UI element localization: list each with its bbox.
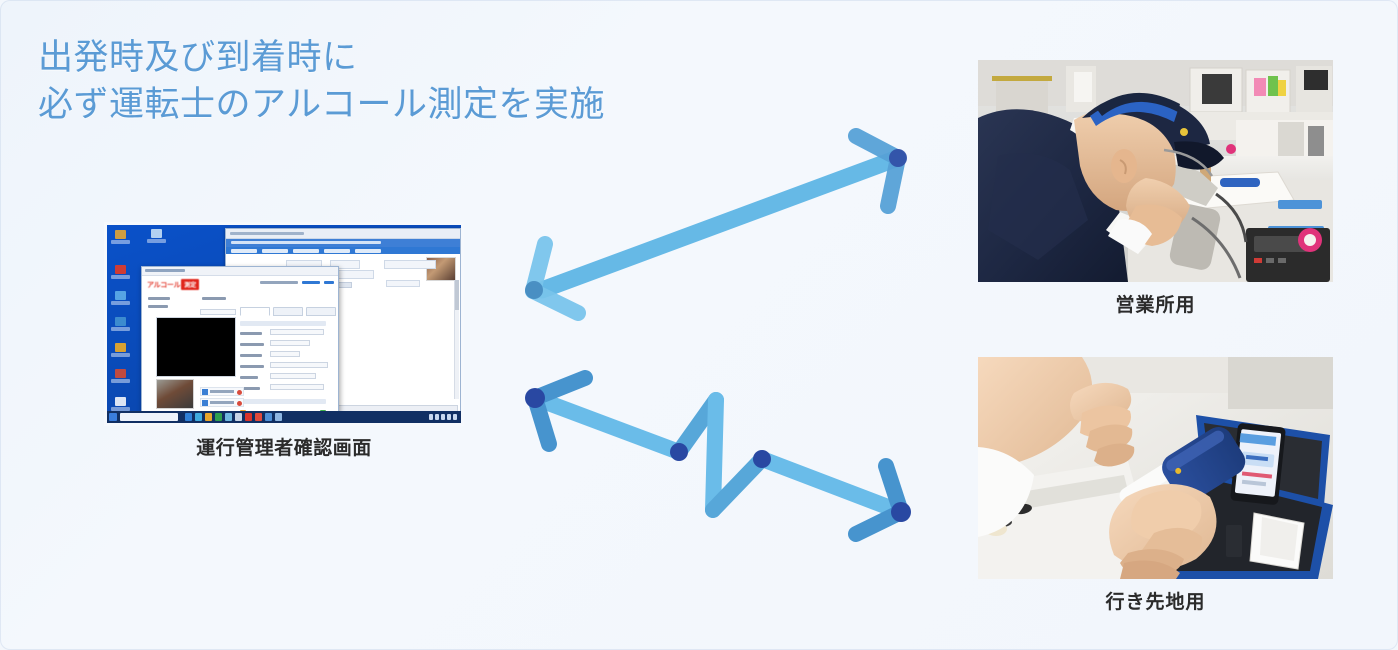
bg-field-4[interactable] <box>384 260 436 269</box>
background-window-titlebar[interactable] <box>226 229 460 239</box>
background-window-addressbar[interactable] <box>226 239 460 247</box>
detail-value-6[interactable] <box>270 384 324 390</box>
upper-double-arrow <box>525 136 907 313</box>
desktop-icon-misc <box>115 369 126 378</box>
taskbar-icon-pdf[interactable] <box>245 413 252 421</box>
title-line-2: 必ず運転士のアルコール測定を実施 <box>38 81 605 128</box>
office-photo-caption: 営業所用 <box>978 290 1333 317</box>
office-photo-card: 営業所用 <box>978 60 1333 317</box>
office-photo-frame <box>978 60 1333 282</box>
zigzag-left-head-barb-b <box>535 398 549 444</box>
mobile-photo-card: 行き先地用 <box>978 357 1333 614</box>
desktop-icon-browser <box>115 291 126 300</box>
taskbar-icon-explorer[interactable] <box>185 413 192 421</box>
zigzag-left-joint <box>525 388 545 408</box>
zigzag-segment-3 <box>713 400 716 510</box>
dialog-section-header-2 <box>240 399 326 404</box>
page-title: 出発時及び到着時に 必ず運転士のアルコール測定を実施 <box>38 34 605 128</box>
dialog-label-2 <box>148 305 168 308</box>
zigzag-right-joint <box>891 502 911 522</box>
bg-filter-select[interactable] <box>386 280 420 287</box>
desktop-icon-recorder <box>115 265 126 274</box>
camera-preview <box>156 317 236 377</box>
desktop-icon-folder <box>115 230 126 239</box>
upper-arrow-tail-barb-a <box>533 244 545 291</box>
taskbar-icon-folder[interactable] <box>205 413 212 421</box>
mini-card-1[interactable] <box>200 387 244 396</box>
dialog-titlebar[interactable] <box>142 267 338 276</box>
taskbar-icon-app3[interactable] <box>255 413 262 421</box>
dialog-tabs[interactable] <box>240 307 336 316</box>
measurement-dialog-window[interactable]: アルコール測定 <box>141 266 339 412</box>
zigzag-left-head-barb-a <box>535 378 585 398</box>
tab-3[interactable] <box>306 307 336 316</box>
manager-screen-image: アルコール測定 <box>104 222 464 426</box>
slide-canvas: 出発時及び到着時に 必ず運転士のアルコール測定を実施 <box>0 0 1398 650</box>
taskbar-icon-app2[interactable] <box>235 413 242 421</box>
zigzag-segment-4 <box>713 459 762 510</box>
vertical-scrollbar[interactable] <box>454 280 459 399</box>
mini-card-2[interactable] <box>200 398 244 407</box>
taskbar-icon-edge[interactable] <box>195 413 202 421</box>
office-breathalyzer-photo <box>978 60 1333 282</box>
title-line-1: 出発時及び到着時に <box>38 34 605 81</box>
mobile-photo-caption: 行き先地用 <box>978 587 1333 614</box>
taskbar-icon-app1[interactable] <box>225 413 232 421</box>
dialog-input-1[interactable] <box>200 309 236 315</box>
detail-label-1 <box>240 332 262 335</box>
detail-value-5[interactable] <box>270 373 316 379</box>
upper-arrow-head-barb-a <box>856 136 898 158</box>
dialog-section-header-1 <box>240 321 326 326</box>
tab-2[interactable] <box>273 307 303 316</box>
captured-photo-thumb <box>156 379 194 409</box>
tab-1[interactable] <box>240 307 270 316</box>
upper-arrow-tail-barb-b <box>533 291 578 313</box>
desktop-icon-app <box>151 229 162 238</box>
detail-label-3 <box>240 354 262 357</box>
system-tray[interactable] <box>429 414 459 420</box>
manager-screen-figure: アルコール測定 <box>104 222 464 460</box>
detail-value-4[interactable] <box>270 362 328 368</box>
windows-taskbar[interactable] <box>107 411 461 423</box>
upper-arrow-right-joint <box>889 149 907 167</box>
dialog-header-actions[interactable] <box>260 281 334 284</box>
detail-label-4 <box>240 365 264 368</box>
detail-label-5 <box>240 376 258 379</box>
detail-label-2 <box>240 343 264 346</box>
zigzag-right-head-barb-b <box>856 512 901 534</box>
zigzag-segment-5 <box>762 459 901 512</box>
detail-value-3[interactable] <box>270 351 300 357</box>
app-logo: アルコール測定 <box>147 279 199 290</box>
zigzag-segment-2 <box>679 400 716 452</box>
desktop-icon-trash <box>115 397 126 406</box>
taskbar-icon-excel[interactable] <box>215 413 222 421</box>
upper-arrow-head-barb-b <box>888 158 898 206</box>
detail-value-2[interactable] <box>270 340 310 346</box>
start-button-icon[interactable] <box>109 413 117 421</box>
upper-arrow-shaft <box>542 158 898 290</box>
zigzag-joint-1 <box>670 443 688 461</box>
taskbar-icon-app4[interactable] <box>265 413 272 421</box>
desktop-icon-tool <box>115 317 126 326</box>
lower-zigzag-arrow <box>525 378 911 534</box>
zigzag-joint-2 <box>753 450 771 468</box>
mobile-breathalyzer-photo <box>978 357 1333 579</box>
upper-arrow-left-joint <box>525 281 543 299</box>
dialog-label-1 <box>148 297 170 300</box>
mobile-photo-frame <box>978 357 1333 579</box>
zigzag-right-head-barb-a <box>886 466 901 512</box>
zigzag-segment-1 <box>535 398 679 452</box>
taskbar-search-input[interactable] <box>120 413 178 421</box>
taskbar-icon-app5[interactable] <box>275 413 282 421</box>
dialog-label-3 <box>202 297 226 300</box>
desktop-icon-docs <box>115 343 126 352</box>
manager-screen-caption: 運行管理者確認画面 <box>104 433 464 460</box>
detail-value-1[interactable] <box>270 329 324 335</box>
